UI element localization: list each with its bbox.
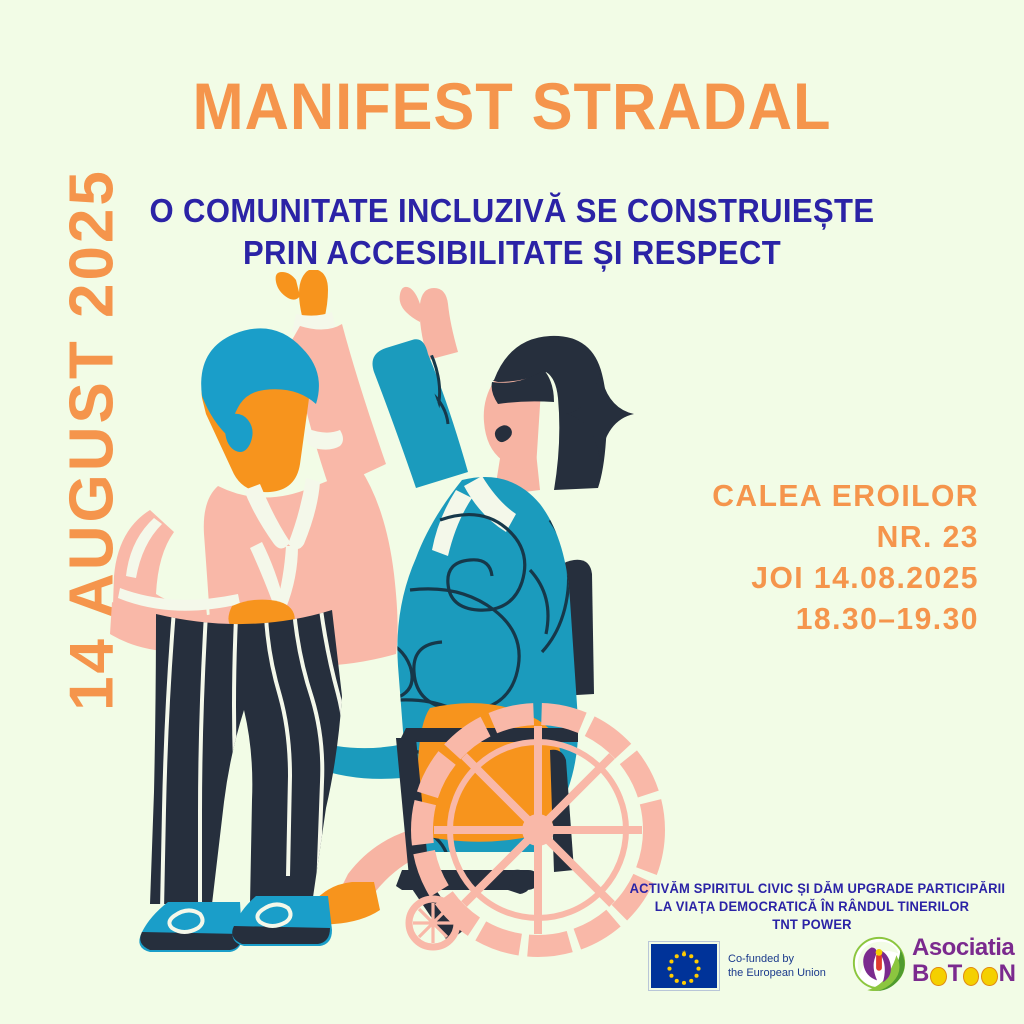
beteen-t: T bbox=[948, 961, 963, 987]
beteen-b: B bbox=[912, 961, 929, 987]
organiser-tagline: ACTIVĂM SPIRITUL CIVIC ȘI DĂM UPGRADE PA… bbox=[630, 880, 995, 934]
wheelchair-caster bbox=[409, 899, 457, 947]
subtitle-line-2: PRIN ACCESIBILITATE ȘI RESPECT bbox=[31, 232, 994, 274]
venue-time: 18.30–19.30 bbox=[712, 598, 979, 639]
venue-details: CALEA EROILOR NR. 23 JOI 14.08.2025 18.3… bbox=[712, 475, 979, 639]
smiley-dot-icon-1 bbox=[930, 967, 946, 986]
asociatia-beteen-logo: Asociatia B T N bbox=[850, 932, 1018, 994]
poster-canvas: MANIFEST STRADAL O COMUNITATE INCLUZIVĂ … bbox=[0, 0, 1024, 1024]
smiley-dot-icon-3 bbox=[981, 967, 997, 986]
leaf-butterfly-emblem bbox=[850, 934, 908, 992]
eu-logo-text: Co-funded by the European Union bbox=[728, 952, 826, 980]
smiley-dot-icon-2 bbox=[963, 967, 979, 986]
illustration-people-handshake bbox=[110, 270, 730, 970]
eu-flag bbox=[648, 941, 720, 991]
tagline-line-2: LA VIAȚA DEMOCRATICĂ ÎN RÂNDUL TINERILOR bbox=[630, 898, 995, 916]
tagline-line-1: ACTIVĂM SPIRITUL CIVIC ȘI DĂM UPGRADE PA… bbox=[630, 880, 995, 898]
eu-text-line-1: Co-funded by bbox=[728, 952, 826, 966]
subtitle-line-1: O COMUNITATE INCLUZIVĂ SE CONSTRUIEȘTE bbox=[31, 190, 994, 232]
eu-cofunding-logo: Co-funded by the European Union bbox=[648, 941, 826, 991]
eu-text-line-2: the European Union bbox=[728, 966, 826, 980]
wheelchair bbox=[396, 703, 654, 947]
beteen-line-2: B T N bbox=[912, 961, 1016, 987]
figure-standing-person bbox=[110, 270, 398, 952]
beteen-wordmark: Asociatia B T N bbox=[912, 935, 1016, 991]
venue-date: JOI 14.08.2025 bbox=[712, 557, 979, 598]
beteen-n: N bbox=[999, 961, 1016, 987]
poster-subtitle: O COMUNITATE INCLUZIVĂ SE CONSTRUIEȘTE P… bbox=[31, 190, 994, 274]
venue-street: CALEA EROILOR bbox=[712, 475, 979, 516]
page-title: MANIFEST STRADAL bbox=[36, 68, 988, 144]
beteen-line-1: Asociatia bbox=[912, 935, 1016, 961]
venue-number: NR. 23 bbox=[712, 516, 979, 557]
